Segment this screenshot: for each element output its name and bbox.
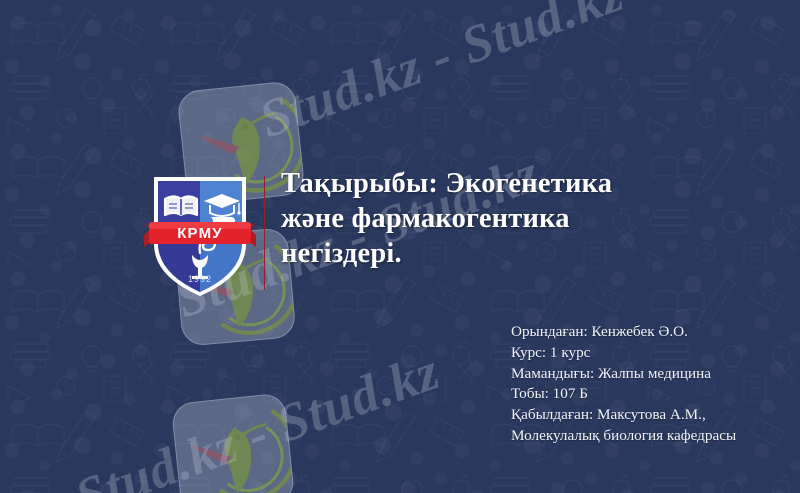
author-line-accepted-by: Қабылдаған: Максутова А.М., [511, 405, 796, 426]
vertical-red-rule [264, 176, 265, 290]
krmu-ribbon: КРМУ [144, 222, 256, 247]
svg-text:КРМУ: КРМУ [177, 225, 223, 242]
slide-title: Тақырыбы: Экогенетика және фармакогентик… [281, 166, 721, 271]
title-line-2: және фармакогентика [281, 201, 721, 236]
krmu-emblem: 1992 КРМУ [140, 165, 260, 300]
author-line-group: Тобы: 107 Б [511, 384, 796, 405]
emblem-year: 1992 [188, 274, 212, 284]
author-info-block: Орындаған: Кенжебек Ә.О. Курс: 1 курс Ма… [511, 322, 796, 447]
author-line-performed-by: Орындаған: Кенжебек Ә.О. [511, 322, 796, 343]
open-book-icon [165, 197, 197, 216]
title-line-3: негіздері. [281, 236, 721, 271]
author-line-course: Курс: 1 курс [511, 343, 796, 364]
author-line-department: Молекулалық биология кафедрасы [511, 426, 796, 447]
presentation-slide: Stud.kz - Stud.kz Stud.kz - Stud.kz Stud… [0, 0, 800, 493]
title-line-1: Тақырыбы: Экогенетика [281, 166, 721, 201]
author-line-specialty: Мамандығы: Жалпы медицина [511, 364, 796, 385]
